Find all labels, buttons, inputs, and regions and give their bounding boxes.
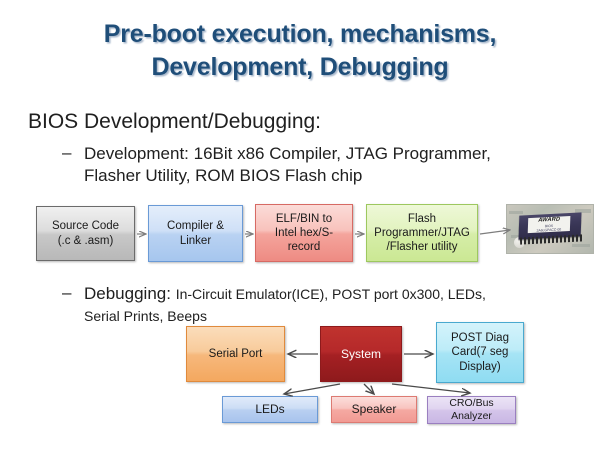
slide-title-line-1: Pre-boot execution, mechanisms,: [40, 18, 560, 51]
section-heading: BIOS Development/Debugging:: [28, 110, 321, 134]
rom-bios-flash-chip-photo: AWARD BIOS 2A6LGPACC-00: [506, 204, 594, 254]
slide-canvas: Pre-boot execution, mechanisms, Developm…: [0, 0, 600, 450]
line: POST Diag: [448, 331, 512, 345]
debug-node-cro-bus-analyzer[interactable]: CRO/Bus Analyzer: [427, 396, 516, 424]
line: Analyzer: [446, 410, 496, 423]
debug-node-speaker-label: Speaker: [349, 402, 400, 417]
debug-node-serial-port[interactable]: Serial Port: [186, 326, 285, 382]
chip-code: 2A6LGPACC-00: [528, 228, 570, 234]
bullet-debugging-lead: Debugging:: [84, 284, 171, 303]
pcb-trace: [572, 244, 590, 247]
line: Programmer/JTAG: [371, 226, 473, 240]
line: Flash: [371, 212, 473, 226]
bullet-dash-icon: –: [62, 143, 71, 163]
line: Compiler &: [164, 219, 227, 233]
line: Card(7 seg: [448, 345, 512, 359]
debug-node-cro-bus-analyzer-label: CRO/Bus Analyzer: [443, 397, 499, 423]
line: record: [272, 240, 336, 254]
debug-node-leds[interactable]: LEDs: [222, 396, 318, 423]
flow-node-flash-programmer-label: Flash Programmer/JTAG /Flasher utility: [368, 212, 476, 254]
flow-node-elf-bin-converter-label: ELF/BIN to Intel hex/S- record: [269, 212, 339, 254]
debug-node-speaker[interactable]: Speaker: [331, 396, 417, 423]
bullet-debugging-text: Debugging: In-Circuit Emulator(ICE), POS…: [84, 283, 522, 327]
line: CRO/Bus: [446, 397, 496, 410]
debug-node-system-label: System: [338, 347, 384, 362]
flow-node-flash-programmer[interactable]: Flash Programmer/JTAG /Flasher utility: [366, 204, 478, 262]
arrow-system-to-leds: [284, 384, 340, 394]
debug-node-post-diag-card-label: POST Diag Card(7 seg Display): [445, 331, 515, 373]
pcb-trace: [509, 211, 523, 214]
bullet-dash-icon: –: [62, 283, 71, 303]
debug-node-system[interactable]: System: [320, 326, 402, 382]
flow-node-source-code-label: Source Code (.c & .asm): [46, 219, 125, 247]
line: ELF/BIN to: [272, 212, 336, 226]
arrow-system-to-speaker: [364, 384, 374, 394]
debug-node-serial-port-label: Serial Port: [206, 347, 266, 361]
line: /Flasher utility: [371, 240, 473, 254]
slide-title: Pre-boot execution, mechanisms, Developm…: [40, 18, 560, 84]
bullet-debugging: – Debugging: In-Circuit Emulator(ICE), P…: [62, 283, 522, 327]
arrow-system-to-cro: [392, 384, 470, 393]
line: Linker: [164, 234, 227, 248]
slide-title-line-2: Development, Debugging: [40, 51, 560, 84]
line: Intel hex/S-: [272, 226, 336, 240]
flow-node-elf-bin-converter[interactable]: ELF/BIN to Intel hex/S- record: [255, 204, 353, 262]
debug-node-post-diag-card[interactable]: POST Diag Card(7 seg Display): [436, 322, 524, 383]
debug-node-leds-label: LEDs: [252, 402, 287, 417]
bullet-development: – Development: 16Bit x86 Compiler, JTAG …: [62, 143, 532, 187]
bullet-development-text: Development: 16Bit x86 Compiler, JTAG Pr…: [84, 143, 532, 187]
line: Display): [448, 360, 512, 374]
flow-node-compiler-linker[interactable]: Compiler & Linker: [148, 205, 243, 262]
flow-node-compiler-linker-label: Compiler & Linker: [161, 219, 230, 247]
flow-node-source-code[interactable]: Source Code (.c & .asm): [36, 206, 135, 261]
chip-sticker-label: AWARD BIOS 2A6LGPACC-00: [528, 216, 571, 233]
line: (.c & .asm): [49, 234, 122, 248]
line: Source Code: [49, 219, 122, 233]
